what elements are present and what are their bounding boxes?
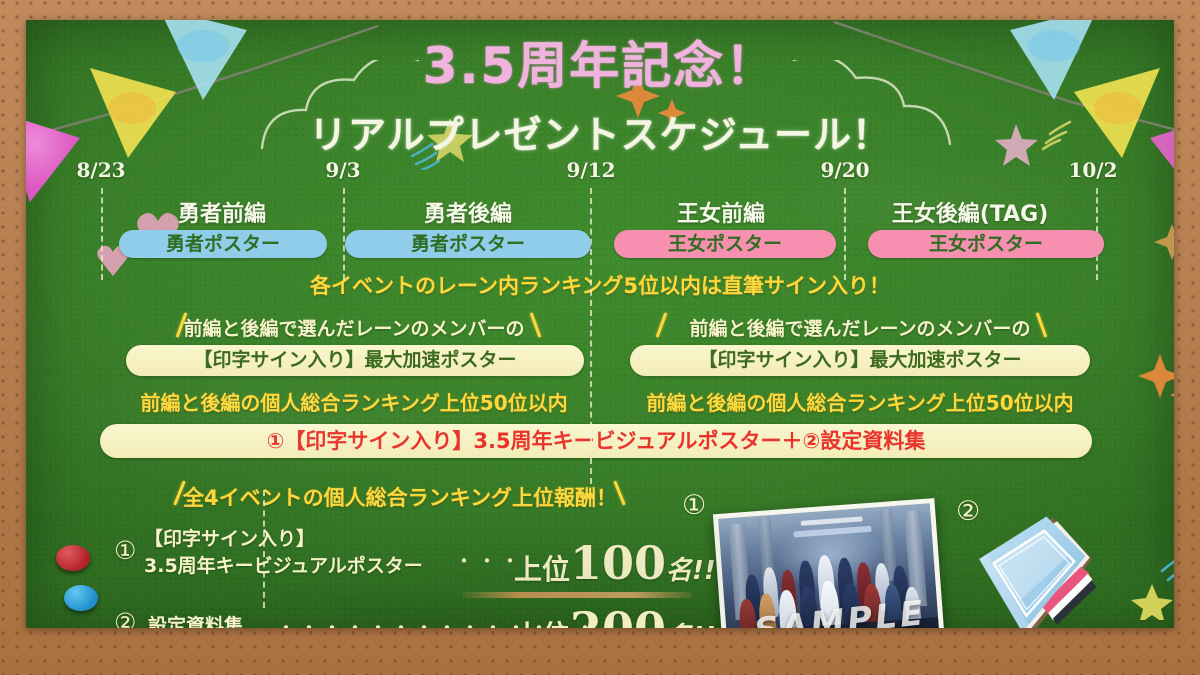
reward-count-suffix: 名!! (666, 556, 716, 586)
reward-marker: ② (114, 608, 136, 628)
reward-count: 上位200名!! (514, 602, 716, 628)
reward-dots: ・・・ (454, 545, 523, 574)
reward-count-number: 100 (570, 536, 666, 590)
settings-book-image (971, 507, 1106, 628)
event-name-row: 勇者前編 勇者後編 王女前編 王女後編(TAG) (26, 196, 1174, 226)
rewards-headline: 全4イベントの個人総合ランキング上位報酬！ (183, 482, 617, 512)
lane-rank-note: 各イベントのレーン内ランキング5位以内は直筆サイン入り！ (310, 270, 890, 300)
column-divider (263, 490, 265, 608)
half-reward-bar[interactable]: 【印字サイン入り】最大加速ポスター (630, 345, 1090, 376)
event-name: 勇者後編 (424, 196, 512, 228)
event-name: 王女前編 (677, 196, 765, 228)
half-headline: 前編と後編で選んだレーンのメンバーの (689, 314, 1030, 341)
sparkle-icon (1168, 378, 1174, 428)
date-label: 8/23 (76, 158, 125, 182)
column-divider (590, 438, 592, 484)
poster-marker: ① (682, 490, 706, 521)
event-reward-pill[interactable]: 王女ポスター (614, 230, 836, 258)
half-headline: 前編と後編で選んだレーンのメンバーの (183, 314, 524, 341)
date-label: 9/12 (566, 158, 615, 182)
event-reward-pill[interactable]: 勇者ポスター (119, 230, 327, 258)
page-title: 3.5周年記念！ (26, 26, 1174, 98)
reward-count-prefix: 上位 (514, 553, 570, 586)
reward-marker: ① (114, 536, 136, 565)
date-label: 9/3 (325, 158, 360, 182)
half-reward-bar[interactable]: 【印字サイン入り】最大加速ポスター (126, 345, 584, 376)
date-label: 10/2 (1068, 158, 1117, 182)
event-name: 王女後編(TAG) (892, 196, 1049, 228)
magnet-icon (64, 585, 98, 611)
title-block: 3.5周年記念！ リアルプレゼントスケジュール！ (26, 26, 1174, 159)
half-condition: 前編と後編の個人総合ランキング上位50位以内 (646, 387, 1073, 416)
reward-underline (462, 592, 692, 598)
event-reward-row: 勇者ポスター 勇者ポスター 王女ポスター 王女ポスター (26, 230, 1174, 260)
reward-count-suffix: 名!! (666, 622, 716, 628)
half-condition: 前編と後編の個人総合ランキング上位50位以内 (140, 387, 567, 416)
reward-label-line1: 【印字サイン入り】 (144, 524, 315, 551)
reward-label-line1: 設定資料集 (148, 611, 243, 628)
poster-root: 3.5周年記念！ リアルプレゼントスケジュール！ 8/23 9/3 9/12 9… (0, 0, 1200, 675)
grand-reward-bar[interactable]: ①【印字サイン入り】3.5周年キービジュアルポスター＋②設定資料集 (100, 424, 1092, 458)
date-label: 9/20 (820, 158, 869, 182)
schedule-section: 8/23 9/3 9/12 9/20 10/2 勇者前編 勇者後編 王女前編 王… (26, 158, 1174, 260)
event-name: 勇者前編 (178, 196, 266, 228)
reward-count-number: 200 (570, 602, 666, 628)
shooting-star-icon (1124, 550, 1174, 620)
reward-count: 上位100名!! (514, 536, 716, 590)
reward-count-prefix: 上位 (514, 619, 570, 628)
reward-label-line2: 3.5周年キービジュアルポスター (144, 551, 423, 578)
page-subtitle: リアルプレゼントスケジュール！ (26, 104, 1174, 159)
magnet-icon (56, 545, 90, 571)
event-reward-pill[interactable]: 勇者ポスター (345, 230, 591, 258)
event-reward-pill[interactable]: 王女ポスター (868, 230, 1104, 258)
chalkboard: 3.5周年記念！ リアルプレゼントスケジュール！ 8/23 9/3 9/12 9… (26, 20, 1174, 628)
date-axis: 8/23 9/3 9/12 9/20 10/2 (26, 158, 1174, 184)
key-visual-poster-image: SAMPLE (713, 498, 945, 628)
